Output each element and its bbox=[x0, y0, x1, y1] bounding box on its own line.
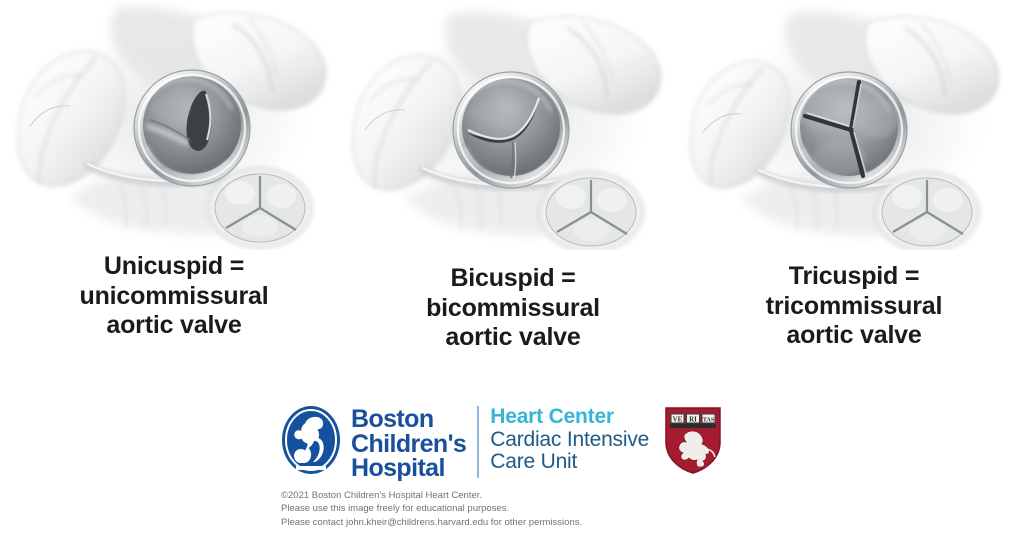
caption-line: aortic valve bbox=[353, 323, 673, 353]
copyright-block: ©2021 Boston Children's Hospital Heart C… bbox=[281, 489, 801, 529]
svg-text:RI: RI bbox=[689, 415, 697, 423]
copyright-line-2: Please use this image freely for educati… bbox=[281, 502, 801, 515]
caption-tricuspid: Tricuspid = tricommissural aortic valve bbox=[694, 262, 1014, 351]
caption-line: unicommissural bbox=[14, 282, 334, 312]
harvard-medical-school-shield-icon: VE RI TAS bbox=[663, 404, 723, 476]
caption-bicuspid: Bicuspid = bicommissural aortic valve bbox=[353, 264, 673, 353]
caption-unicuspid: Unicuspid = unicommissural aortic valve bbox=[14, 252, 334, 341]
copyright-line-1: ©2021 Boston Children's Hospital Heart C… bbox=[281, 489, 801, 502]
copyright-line-3: Please contact john.kheir@childrens.harv… bbox=[281, 516, 801, 529]
svg-text:TAS: TAS bbox=[703, 416, 715, 423]
panel-tricuspid bbox=[683, 0, 1024, 250]
svg-text:VE: VE bbox=[673, 415, 683, 423]
caption-line: aortic valve bbox=[694, 321, 1014, 351]
heart-center-subtitle-line2: Care Unit bbox=[490, 451, 649, 474]
caption-line: tricommissural bbox=[694, 292, 1014, 322]
bch-wordmark-line: Hospital bbox=[351, 456, 466, 481]
pulmonary-valve-inset bbox=[539, 172, 643, 250]
pulmonary-valve-inset bbox=[875, 172, 979, 250]
boston-childrens-hospital-seal-icon bbox=[280, 404, 342, 476]
caption-row: Unicuspid = unicommissural aortic valve … bbox=[0, 246, 1024, 376]
aortic-valve-ring bbox=[134, 70, 250, 186]
caption-line: bicommissural bbox=[353, 294, 673, 324]
pulmonary-valve-inset bbox=[208, 168, 312, 248]
heart-center-title: Heart Center bbox=[490, 406, 649, 429]
caption-line: Unicuspid = bbox=[14, 252, 334, 282]
caption-line: Bicuspid = bbox=[353, 264, 673, 294]
caption-line: Tricuspid = bbox=[694, 262, 1014, 292]
bch-wordmark: Boston Children's Hospital bbox=[351, 404, 466, 481]
bch-wordmark-line: Children's bbox=[351, 432, 466, 457]
panel-unicuspid bbox=[0, 0, 341, 250]
aortic-valve-ring bbox=[791, 72, 907, 188]
valve-illustration-row bbox=[0, 0, 1024, 250]
aortic-valve-ring bbox=[453, 72, 569, 188]
panel-bicuspid bbox=[341, 0, 682, 250]
caption-line: aortic valve bbox=[14, 311, 334, 341]
lockup-divider bbox=[477, 406, 479, 478]
bch-wordmark-line: Boston bbox=[351, 407, 466, 432]
heart-center-block: Heart Center Cardiac Intensive Care Unit bbox=[490, 404, 649, 474]
heart-center-subtitle-line1: Cardiac Intensive bbox=[490, 429, 649, 452]
figure-canvas: Unicuspid = unicommissural aortic valve … bbox=[0, 0, 1024, 537]
logo-lockup: Boston Children's Hospital Heart Center … bbox=[280, 404, 760, 494]
